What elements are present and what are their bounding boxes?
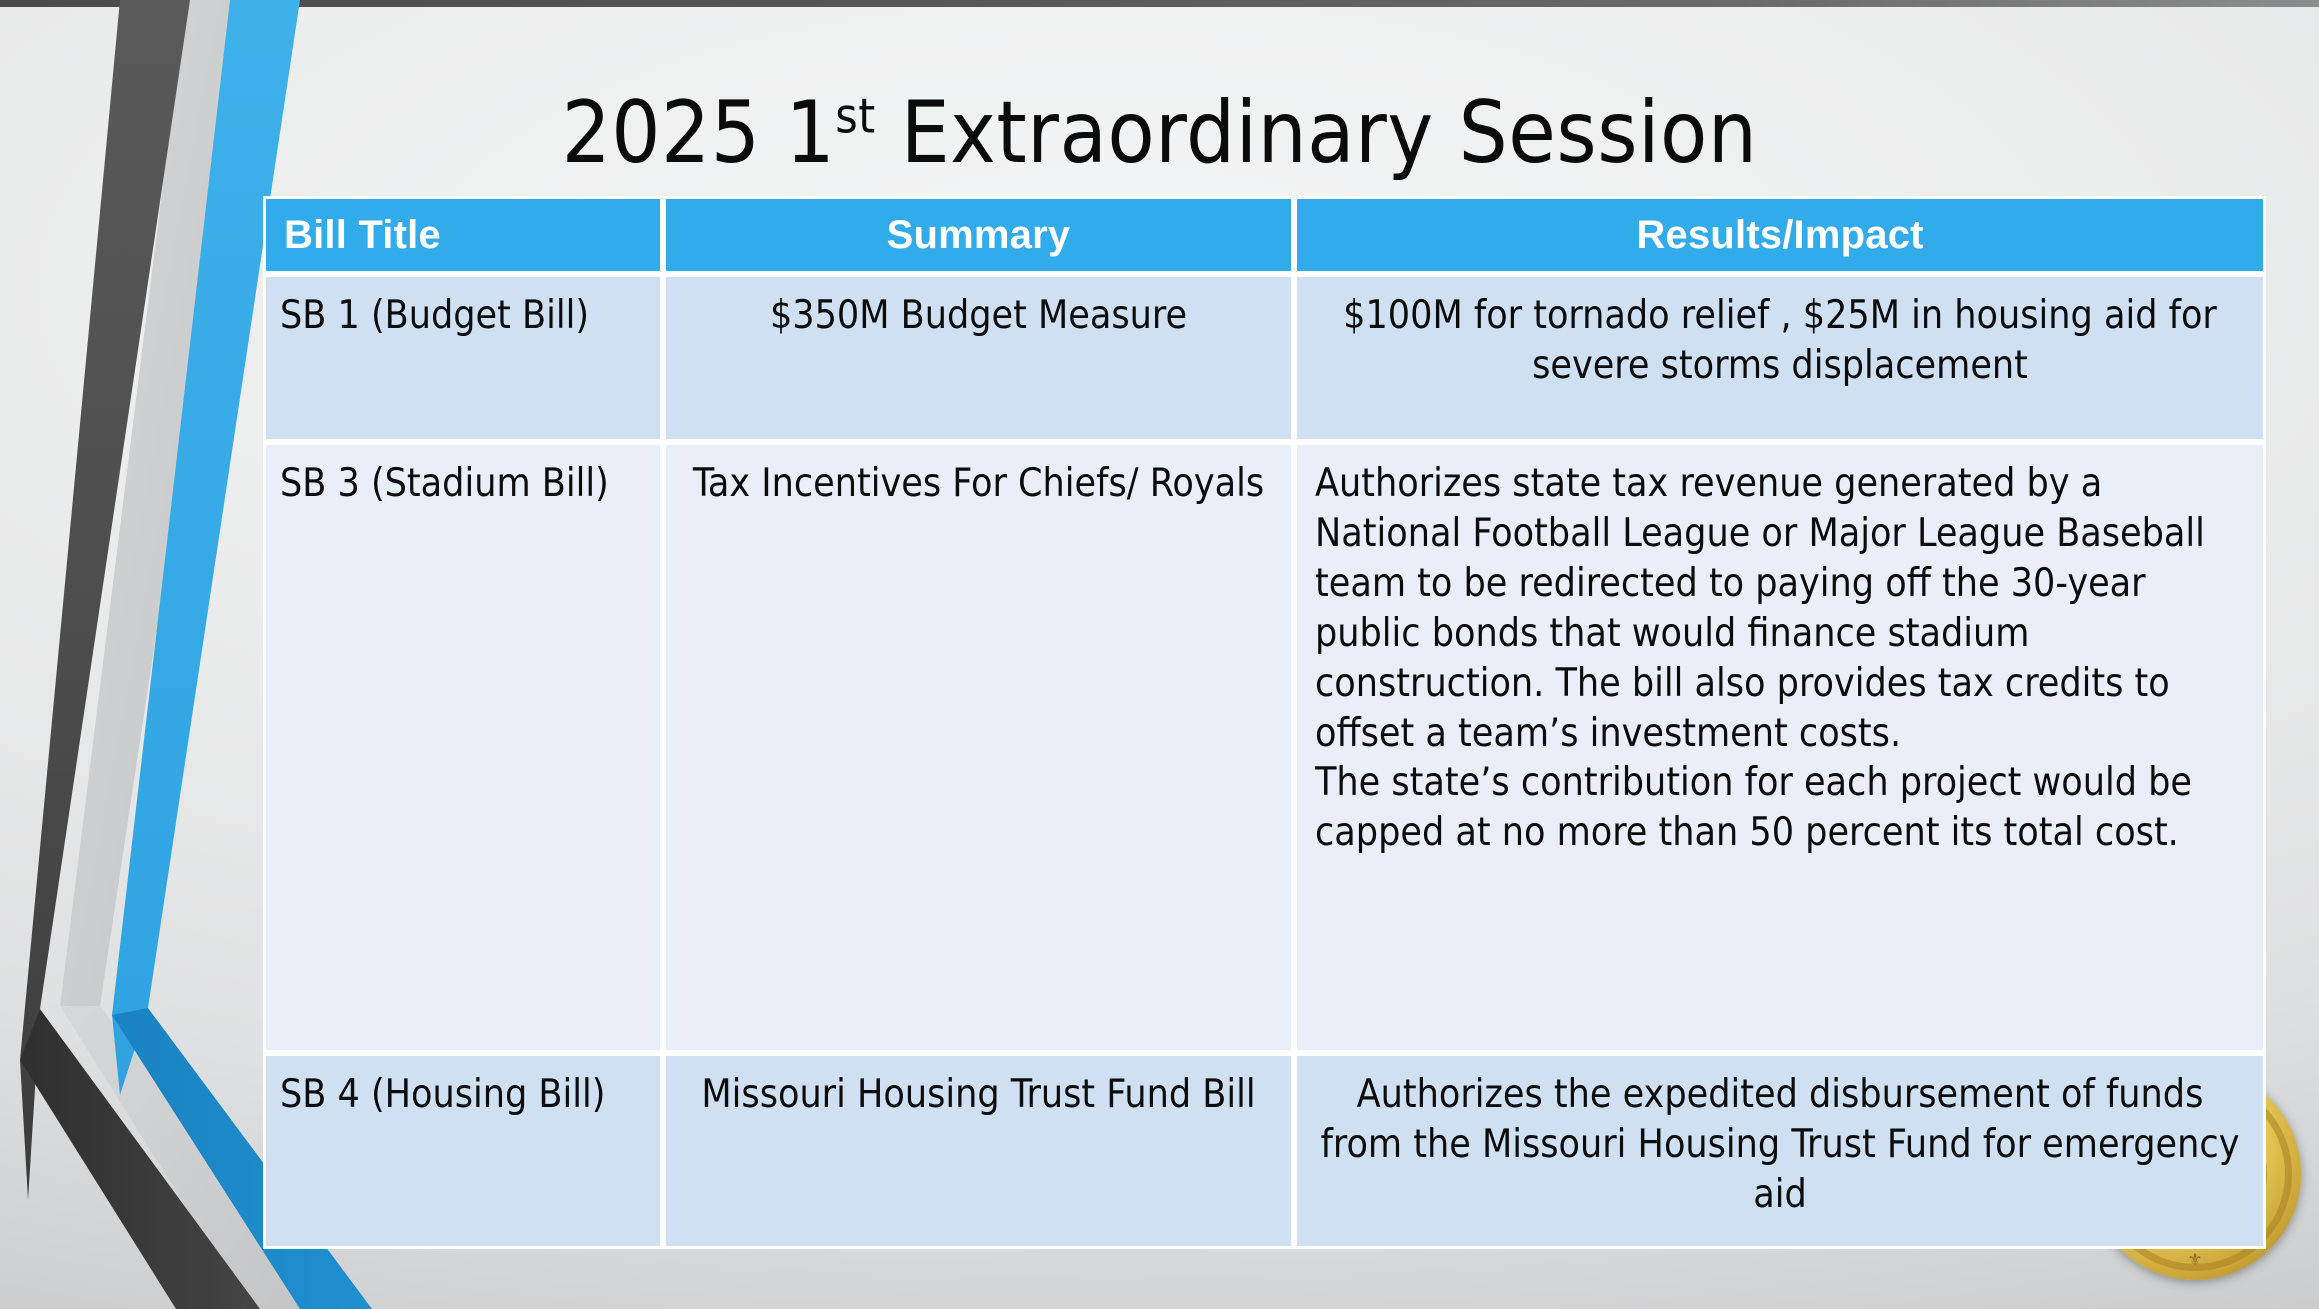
cell-summary: $350M Budget Measure	[663, 274, 1294, 442]
page-title: 2025 1st Extraordinary Session	[0, 84, 2319, 183]
table-row: SB 1 (Budget Bill) $350M Budget Measure …	[263, 274, 2266, 442]
title-rest: Extraordinary Session	[876, 83, 1758, 183]
column-header-results-impact: Results/Impact	[1294, 196, 2266, 274]
cell-results-paragraph-1: Authorizes state tax revenue generated b…	[1315, 459, 2245, 758]
table-header-row: Bill Title Summary Results/Impact	[263, 196, 2266, 274]
column-header-summary: Summary	[663, 196, 1294, 274]
cell-results-paragraph-2: The state’s contribution for each projec…	[1315, 758, 2245, 858]
cell-summary: Tax Incentives For Chiefs/ Royals	[663, 442, 1294, 1053]
title-superscript: st	[835, 88, 875, 144]
table-row: SB 4 (Housing Bill) Missouri Housing Tru…	[263, 1053, 2266, 1249]
cell-results-impact: $100M for tornado relief , $25M in housi…	[1294, 274, 2266, 442]
table-row: SB 3 (Stadium Bill) Tax Incentives For C…	[263, 442, 2266, 1053]
bills-table-container: Bill Title Summary Results/Impact SB 1 (…	[263, 196, 2266, 1249]
bills-table-body: SB 1 (Budget Bill) $350M Budget Measure …	[263, 274, 2266, 1249]
cell-summary: Missouri Housing Trust Fund Bill	[663, 1053, 1294, 1249]
presentation-slide: SENTATIVES MDCCCXX ⚜ 2025 1st Extraordin…	[0, 0, 2319, 1309]
bills-table-head: Bill Title Summary Results/Impact	[263, 196, 2266, 274]
title-main: 2025 1	[562, 83, 836, 183]
seal-fleur-de-lis-icon: ⚜	[2089, 1250, 2301, 1270]
cell-results-impact: Authorizes state tax revenue generated b…	[1294, 442, 2266, 1053]
cell-bill-title: SB 1 (Budget Bill)	[263, 274, 663, 442]
column-header-bill-title: Bill Title	[263, 196, 663, 274]
cell-bill-title: SB 4 (Housing Bill)	[263, 1053, 663, 1249]
cell-bill-title: SB 3 (Stadium Bill)	[263, 442, 663, 1053]
bills-table: Bill Title Summary Results/Impact SB 1 (…	[263, 196, 2266, 1249]
cell-results-impact: Authorizes the expedited disbursement of…	[1294, 1053, 2266, 1249]
